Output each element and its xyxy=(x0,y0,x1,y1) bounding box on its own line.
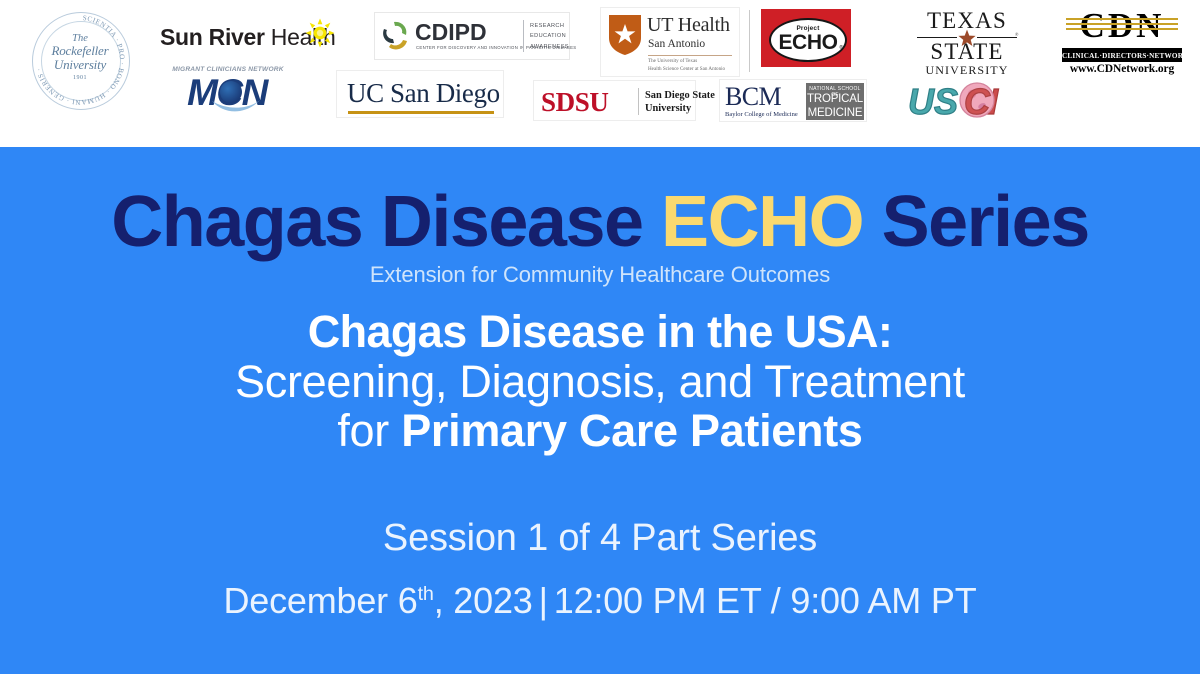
logo-uscn: US N C xyxy=(906,78,1024,124)
ut-health-legal-line2: Health Science Center at San Antonio xyxy=(648,66,725,74)
session-headline: Chagas Disease in the USA: Screening, Di… xyxy=(0,307,1200,456)
seal-year: 1901 xyxy=(41,75,119,81)
series-title-part1: Chagas Disease xyxy=(111,182,661,262)
logo-rockefeller-university: SCIENTIA · PRO · BONO · HUMANI · GENERIS… xyxy=(24,6,132,118)
uc-san-diego-rule xyxy=(348,111,494,114)
logo-cdipd: CDIPD CENTER FOR DISCOVERY AND INNOVATIO… xyxy=(374,12,570,60)
logo-texas-state-university: TEXAS STATE UNIVERSITY ® xyxy=(908,8,1026,76)
cdipd-pillars: RESEARCH EDUCATION AWARENESS xyxy=(530,21,569,52)
mcn-swoosh-icon xyxy=(212,98,260,116)
bcm-acronym: BCM xyxy=(725,84,781,110)
presentation-slide: SCIENTIA · PRO · BONO · HUMANI · GENERIS… xyxy=(0,0,1200,674)
sun-river-bold: Sun River xyxy=(160,24,265,50)
bcm-school-line3: MEDICINE xyxy=(806,107,864,121)
ut-health-shield-icon xyxy=(608,14,642,56)
sdsu-full-name: San Diego State University xyxy=(645,89,715,115)
logo-uc-san-diego: UC San Diego xyxy=(336,70,504,118)
bcm-school-lines: TROPICAL MEDICINE xyxy=(806,93,864,120)
cdn-stripe-3 xyxy=(1066,28,1178,30)
logo-ut-health-san-antonio: UT Health San Antonio The University of … xyxy=(600,7,740,77)
logo-sun-river-health: Sun River Health xyxy=(160,18,335,62)
seal-line-rockefeller: Rockefeller xyxy=(41,44,119,58)
session-datetime: December 6th, 2023|12:00 PM ET / 9:00 AM… xyxy=(0,580,1200,622)
cdn-stripe-1 xyxy=(1066,18,1178,20)
cdipd-pillar-research: RESEARCH xyxy=(530,21,569,31)
session-time: 12:00 PM ET / 9:00 AM PT xyxy=(554,580,977,621)
logo-baylor-college-of-medicine: BCM Baylor College of Medicine NATIONAL … xyxy=(719,79,867,122)
session-number: Session 1 of 4 Part Series xyxy=(0,517,1200,560)
cdipd-acronym: CDIPD xyxy=(415,21,487,44)
uscn-wordmark-icon: US N C xyxy=(906,78,1024,124)
svg-text:US: US xyxy=(908,81,958,122)
logo-project-echo: Project ECHO ® xyxy=(761,9,851,67)
cdipd-trefoil-icon xyxy=(380,20,414,52)
date-year: , 2023 xyxy=(434,580,533,621)
logo-divider xyxy=(749,10,750,72)
partner-logo-band: SCIENTIA · PRO · BONO · HUMANI · GENERIS… xyxy=(0,0,1200,147)
cdn-acronym: CDN xyxy=(1058,8,1186,45)
headline-line1: Chagas Disease in the USA: xyxy=(0,307,1200,357)
series-title-part2: Series xyxy=(863,182,1089,262)
cdn-url: www.CDNetwork.org xyxy=(1058,63,1186,75)
sun-icon xyxy=(305,18,335,48)
texas-state-line3: UNIVERSITY xyxy=(908,64,1026,76)
series-title-echo: ECHO xyxy=(661,182,863,262)
seal-center-text: The Rockefeller University 1901 xyxy=(41,33,119,82)
sdsu-acronym: SDSU xyxy=(541,87,608,118)
slide-body: Chagas Disease ECHO Series Extension for… xyxy=(0,147,1200,674)
texas-state-trademark: ® xyxy=(1015,32,1018,37)
series-title: Chagas Disease ECHO Series xyxy=(0,186,1200,258)
ut-health-legal-line1: The University of Texas xyxy=(648,58,725,66)
headline-line3-light: for xyxy=(337,405,401,456)
headline-line3: for Primary Care Patients xyxy=(0,406,1200,456)
svg-text:C: C xyxy=(964,81,991,122)
uc-san-diego-wordmark: UC San Diego xyxy=(347,78,500,109)
logo-san-diego-state-university: SDSU San Diego State University xyxy=(533,80,696,121)
cdn-name-bar: CLINICAL·DIRECTORS·NETWORK xyxy=(1062,48,1182,62)
cdn-stripe-2 xyxy=(1066,23,1178,25)
sdsu-divider xyxy=(638,88,639,115)
cdipd-pillar-education: EDUCATION xyxy=(530,31,569,41)
bcm-full-name: Baylor College of Medicine xyxy=(725,111,798,118)
ut-health-rule xyxy=(648,55,732,56)
ut-health-legal: The University of Texas Health Science C… xyxy=(648,58,725,74)
sdsu-name-line1: San Diego State xyxy=(645,89,715,102)
headline-line3-bold: Primary Care Patients xyxy=(401,405,862,456)
sdsu-name-line2: University xyxy=(645,102,715,115)
cdipd-divider xyxy=(523,20,524,52)
echo-wordmark: ECHO xyxy=(771,30,845,55)
logo-migrant-clinicians-network: MIGRANT CLINICIANS NETWORK MCN xyxy=(168,66,286,118)
ut-health-city: San Antonio xyxy=(648,38,705,50)
cdipd-pillar-awareness: AWARENESS xyxy=(530,42,569,52)
series-subtitle: Extension for Community Healthcare Outco… xyxy=(0,262,1200,288)
headline-line2: Screening, Diagnosis, and Treatment xyxy=(0,357,1200,407)
echo-trademark: ® xyxy=(839,45,843,51)
echo-oval: Project ECHO ® xyxy=(769,18,847,62)
bcm-school-line2: TROPICAL xyxy=(806,93,864,107)
date-month-day: December 6 xyxy=(224,580,418,621)
texas-state-line2: STATE xyxy=(908,40,1026,63)
bcm-tropical-medicine-box: NATIONAL SCHOOL OF TROPICAL MEDICINE xyxy=(806,83,864,120)
date-ordinal: th xyxy=(418,583,434,605)
logo-clinical-directors-network: CDN CLINICAL·DIRECTORS·NETWORK www.CDNet… xyxy=(1058,8,1186,76)
ut-health-title: UT Health xyxy=(647,14,730,37)
seal-line-university: University xyxy=(41,58,119,72)
cdn-bar-text: CLINICAL·DIRECTORS·NETWORK xyxy=(1062,52,1182,60)
datetime-separator: | xyxy=(533,580,554,621)
